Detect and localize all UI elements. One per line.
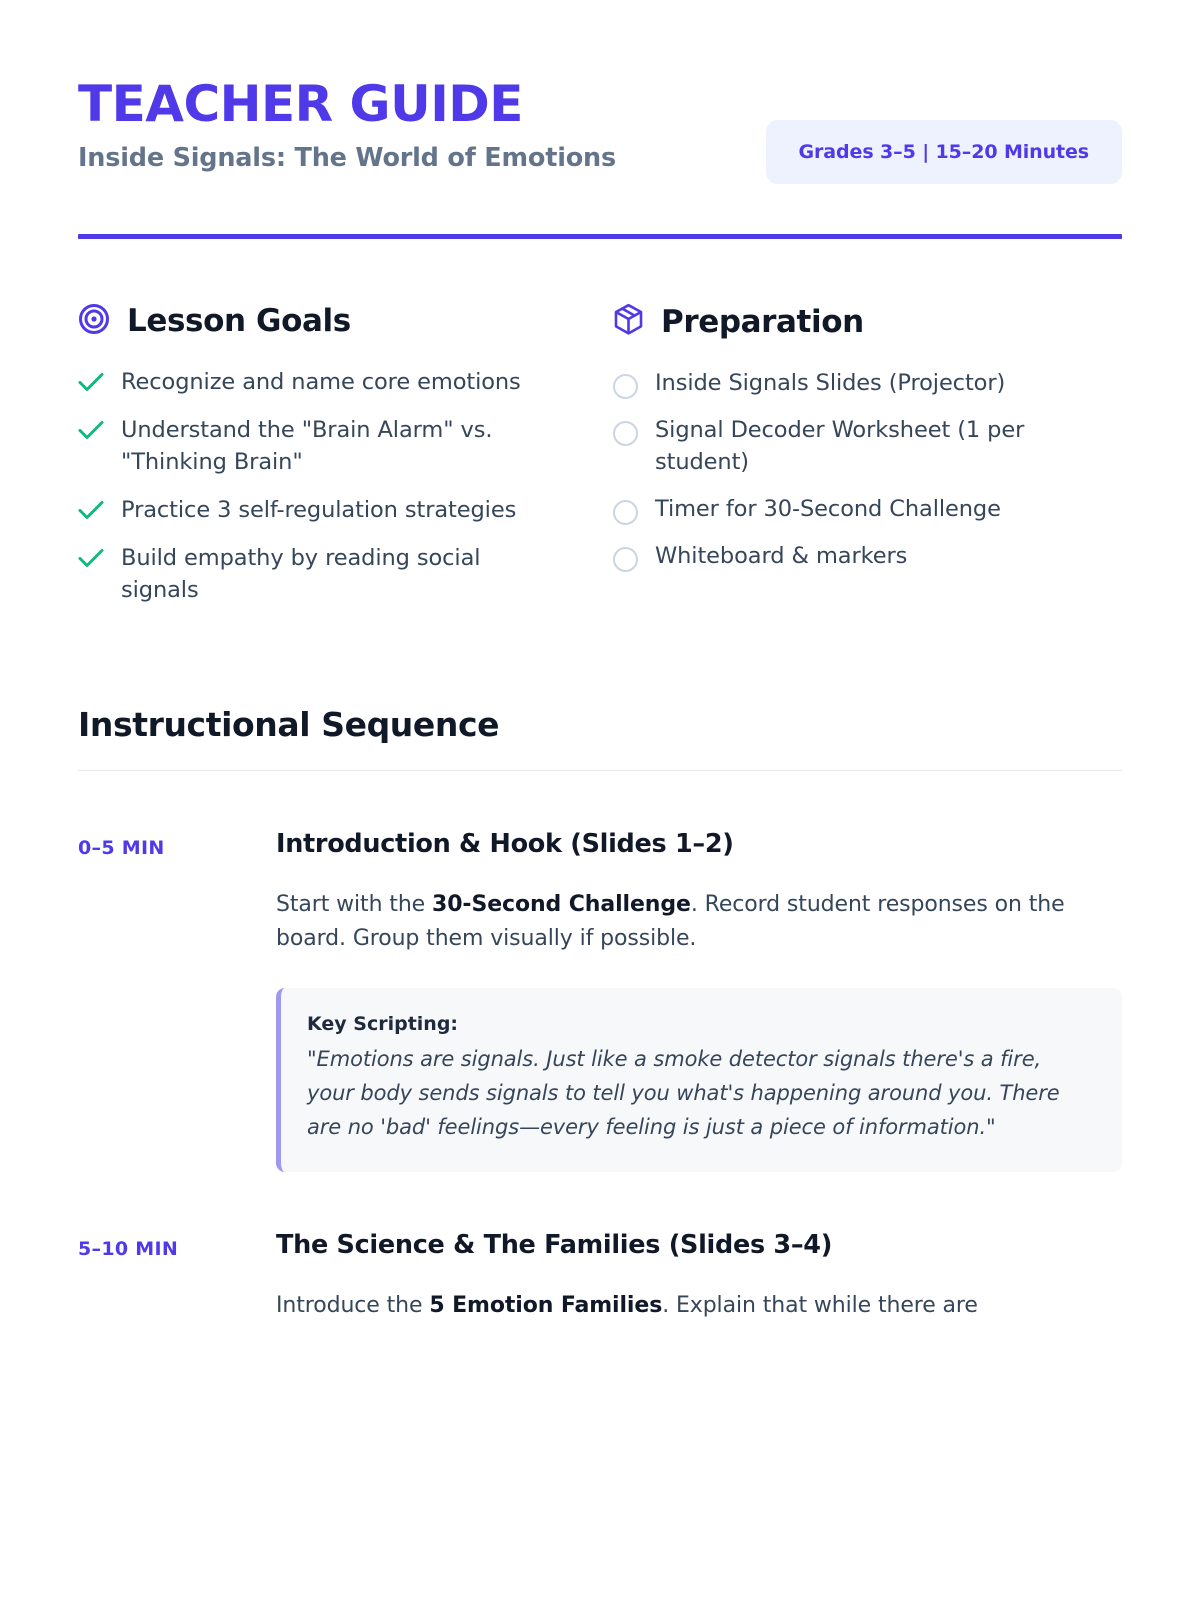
overview-columns: Lesson Goals Recognize and name core emo… (78, 303, 1122, 623)
step-paragraph-lead: Introduce the (276, 1293, 429, 1318)
step-body: The Science & The Families (Slides 3–4) … (276, 1230, 1122, 1324)
header-text-block: TEACHER GUIDE Inside Signals: The World … (78, 74, 616, 175)
list-item[interactable]: Whiteboard & markers (613, 541, 1100, 573)
lesson-goal-text: Recognize and name core emotions (121, 367, 521, 399)
list-item: Recognize and name core emotions (78, 367, 613, 399)
checkbox-circle-icon[interactable] (613, 374, 638, 399)
preparation-header: Preparation (613, 303, 1100, 340)
step-paragraph-emphasis: 5 Emotion Families (429, 1293, 662, 1318)
step-paragraph-emphasis: 30-Second Challenge (432, 892, 691, 917)
list-item[interactable]: Signal Decoder Worksheet (1 per student) (613, 415, 1100, 479)
step-title: The Science & The Families (Slides 3–4) (276, 1230, 1122, 1260)
callout-label: Key Scripting: (307, 1013, 1094, 1035)
lesson-goals-header: Lesson Goals (78, 303, 613, 339)
check-icon (78, 500, 104, 524)
key-scripting-callout: Key Scripting: "Emotions are signals. Ju… (276, 988, 1122, 1172)
lesson-goal-text: Understand the "Brain Alarm" vs. "Thinki… (121, 415, 551, 479)
instructional-sequence-title: Instructional Sequence (78, 705, 1122, 744)
lesson-goals-title: Lesson Goals (127, 303, 351, 339)
step-time-label: 5–10 MIN (78, 1230, 276, 1324)
step-title: Introduction & Hook (Slides 1–2) (276, 829, 1122, 859)
check-icon (78, 420, 104, 444)
lesson-goals-section: Lesson Goals Recognize and name core emo… (78, 303, 613, 623)
checkbox-circle-icon[interactable] (613, 421, 638, 446)
target-icon (78, 303, 110, 339)
checkbox-circle-icon[interactable] (613, 500, 638, 525)
preparation-item-text: Inside Signals Slides (Projector) (655, 368, 1005, 400)
grades-duration-badge: Grades 3–5 | 15–20 Minutes (766, 120, 1122, 184)
callout-quote-text: "Emotions are signals. Just like a smoke… (307, 1042, 1094, 1144)
list-item[interactable]: Timer for 30-Second Challenge (613, 494, 1100, 526)
list-item[interactable]: Inside Signals Slides (Projector) (613, 368, 1100, 400)
page-header: TEACHER GUIDE Inside Signals: The World … (78, 74, 1122, 184)
list-item: Understand the "Brain Alarm" vs. "Thinki… (78, 415, 613, 479)
step-paragraph-lead: Start with the (276, 892, 432, 917)
package-icon (613, 303, 644, 340)
preparation-title: Preparation (661, 304, 864, 340)
checkbox-circle-icon[interactable] (613, 547, 638, 572)
preparation-section: Preparation Inside Signals Slides (Proje… (613, 303, 1100, 623)
list-item: Practice 3 self-regulation strategies (78, 495, 613, 527)
check-icon (78, 548, 104, 572)
list-item: Build empathy by reading social signals (78, 543, 613, 607)
step-paragraph: Introduce the 5 Emotion Families. Explai… (276, 1289, 1122, 1324)
sequence-divider (78, 770, 1122, 771)
step-body: Introduction & Hook (Slides 1–2) Start w… (276, 829, 1122, 1173)
step-paragraph-tail: . Explain that while there are (662, 1293, 978, 1318)
preparation-list: Inside Signals Slides (Projector) Signal… (613, 368, 1100, 573)
step-time-label: 0–5 MIN (78, 829, 276, 1173)
step-paragraph: Start with the 30-Second Challenge. Reco… (276, 888, 1122, 958)
page-subtitle: Inside Signals: The World of Emotions (78, 143, 616, 175)
page-title: TEACHER GUIDE (78, 78, 616, 131)
sequence-step: 0–5 MIN Introduction & Hook (Slides 1–2)… (78, 829, 1122, 1173)
header-divider-rule (78, 234, 1122, 239)
check-icon (78, 372, 104, 396)
teacher-guide-page: TEACHER GUIDE Inside Signals: The World … (0, 0, 1200, 1600)
lesson-goal-text: Build empathy by reading social signals (121, 543, 551, 607)
preparation-item-text: Signal Decoder Worksheet (1 per student) (655, 415, 1085, 479)
lesson-goal-text: Practice 3 self-regulation strategies (121, 495, 516, 527)
sequence-step: 5–10 MIN The Science & The Families (Sli… (78, 1230, 1122, 1324)
preparation-item-text: Timer for 30-Second Challenge (655, 494, 1001, 526)
preparation-item-text: Whiteboard & markers (655, 541, 907, 573)
lesson-goals-list: Recognize and name core emotions Underst… (78, 367, 613, 607)
